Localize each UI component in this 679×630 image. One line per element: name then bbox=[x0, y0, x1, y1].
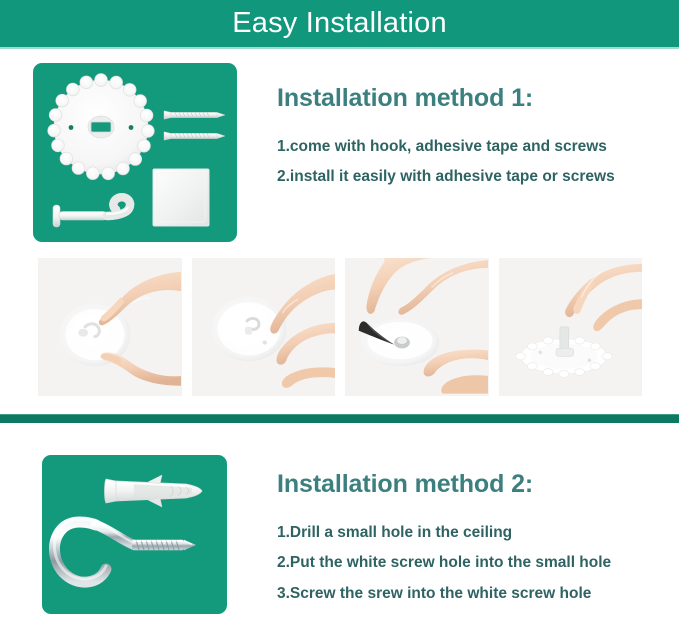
screw-graphic-2 bbox=[164, 132, 225, 140]
photo-attach-hook bbox=[38, 258, 182, 396]
method1-step-1: 1.come with hook, adhesive tape and scre… bbox=[277, 139, 669, 155]
photo-attach-hook-art bbox=[38, 258, 181, 394]
adhesive-hook-graphic bbox=[53, 197, 130, 227]
method2-parts-panel bbox=[42, 455, 227, 614]
photo-peel-adhesive-art bbox=[345, 258, 488, 394]
method2-step-1: 1.Drill a small hole in the ceiling bbox=[277, 525, 669, 541]
adhesive-tape-graphic bbox=[153, 169, 209, 226]
method2-step-list: 1.Drill a small hole in the ceiling 2.Pu… bbox=[277, 525, 669, 602]
header-banner: Easy Installation bbox=[0, 0, 679, 47]
installation-photo-strip bbox=[38, 258, 642, 396]
method2-text-block: Installation method 2: 1.Drill a small h… bbox=[277, 470, 669, 601]
method2-step-2: 2.Put the white screw hole into the smal… bbox=[277, 555, 669, 571]
photo-disc-with-hook bbox=[192, 258, 336, 396]
photo-disc-with-hook-art bbox=[192, 258, 335, 394]
method1-text-block: Installation method 1: 1.come with hook,… bbox=[277, 84, 669, 185]
section-divider bbox=[0, 414, 679, 423]
section-divider-highlight bbox=[0, 414, 679, 415]
photo-tighten-hook-art bbox=[499, 258, 642, 394]
screw-hook-graphic bbox=[54, 519, 196, 582]
method1-parts-panel bbox=[33, 63, 237, 242]
method1-step-2: 2.install it easily with adhesive tape o… bbox=[277, 169, 669, 185]
wall-anchor-plug-graphic bbox=[105, 475, 203, 507]
scalloped-disc-graphic bbox=[48, 74, 155, 180]
screw-graphic-1 bbox=[164, 111, 225, 119]
header-underline bbox=[0, 47, 679, 49]
method2-parts-illustration bbox=[42, 455, 227, 614]
photo-peel-adhesive bbox=[345, 258, 489, 396]
method1-parts-illustration bbox=[33, 63, 237, 242]
page-title: Easy Installation bbox=[232, 9, 447, 38]
method1-heading: Installation method 1: bbox=[277, 84, 669, 113]
method2-step-3: 3.Screw the srew into the white screw ho… bbox=[277, 586, 669, 602]
method2-heading: Installation method 2: bbox=[277, 470, 669, 499]
photo-tighten-hook bbox=[499, 258, 643, 396]
method1-step-list: 1.come with hook, adhesive tape and scre… bbox=[277, 139, 669, 185]
